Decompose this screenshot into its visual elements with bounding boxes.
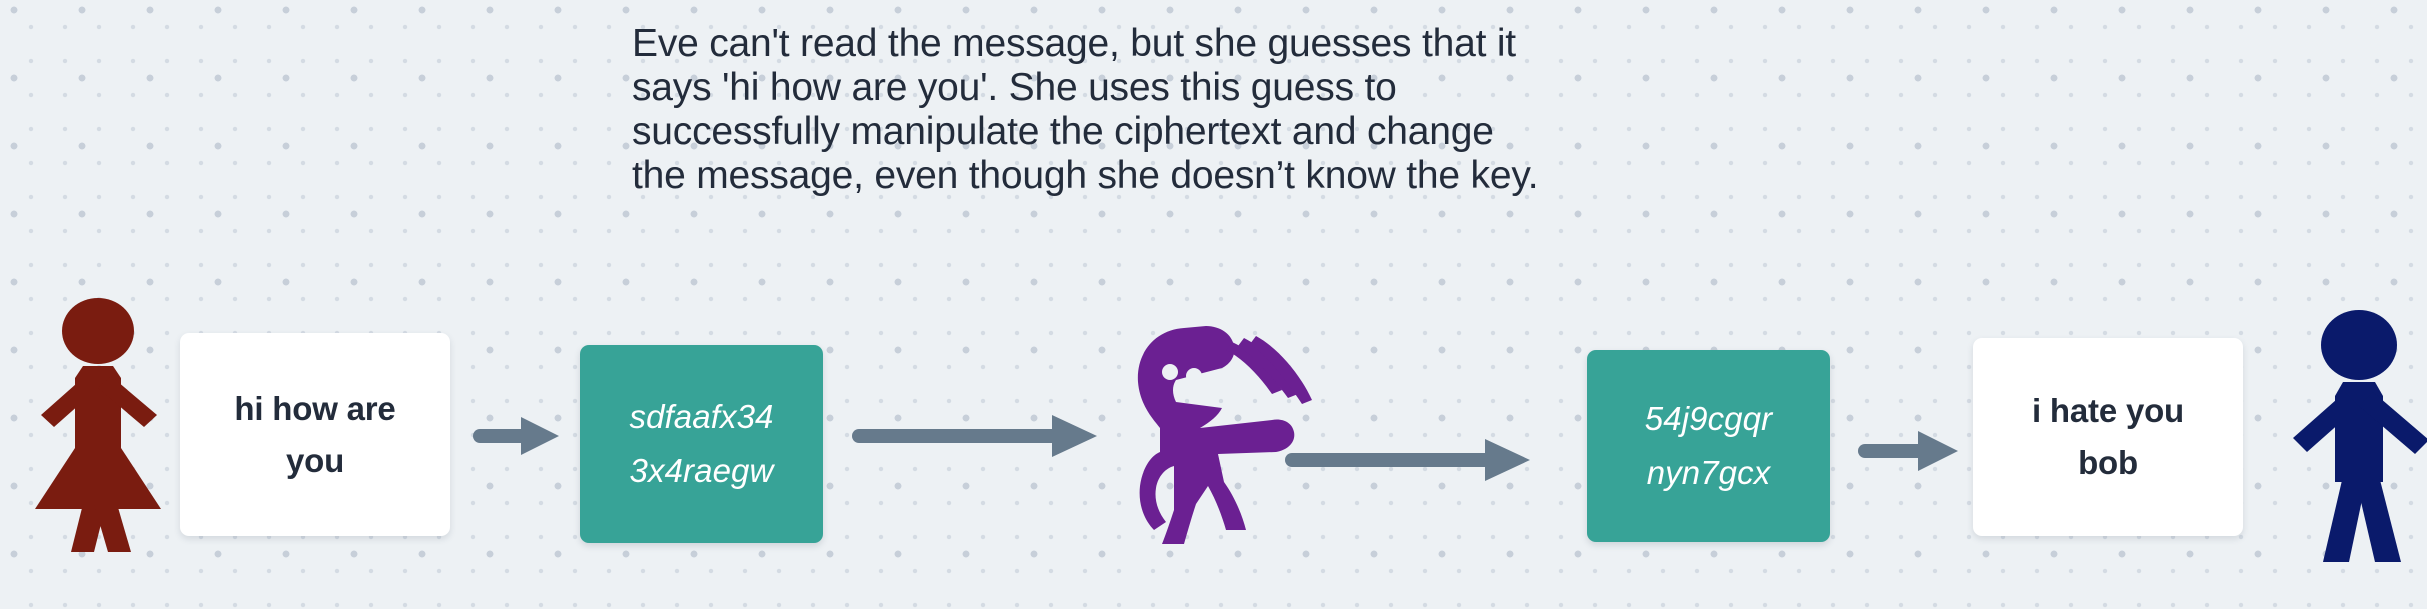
plaintext-tampered-box: i hate you bob	[1973, 338, 2243, 536]
female-stick-figure-icon	[28, 296, 168, 552]
arrow-encrypt	[473, 408, 565, 464]
arrow-right-icon	[473, 408, 565, 464]
arrow-decrypt	[1858, 423, 1963, 479]
plaintext-original-box: hi how are you	[180, 333, 450, 536]
alice-figure	[28, 296, 168, 552]
arrow-right-icon	[852, 408, 1102, 464]
ciphertext-original-box: sdfaafx34 3x4raegw	[580, 345, 823, 543]
plaintext-original-text: hi how are you	[180, 383, 450, 487]
male-stick-figure-icon	[2293, 300, 2427, 562]
arrow-to-eve	[852, 408, 1102, 464]
bob-figure	[2293, 300, 2427, 562]
ciphertext-tampered-box: 54j9cgqr nyn7gcx	[1587, 350, 1830, 542]
diagram-canvas: Eve can't read the message, but she gues…	[0, 0, 2427, 609]
arrow-right-icon	[1285, 432, 1535, 488]
arrow-right-icon	[1858, 423, 1963, 479]
arrow-from-eve	[1285, 432, 1535, 488]
ciphertext-tampered-text: 54j9cgqr nyn7gcx	[1587, 392, 1830, 500]
plaintext-tampered-text: i hate you bob	[1973, 385, 2243, 489]
caption-text: Eve can't read the message, but she gues…	[632, 22, 1792, 198]
ciphertext-original-text: sdfaafx34 3x4raegw	[580, 390, 823, 498]
